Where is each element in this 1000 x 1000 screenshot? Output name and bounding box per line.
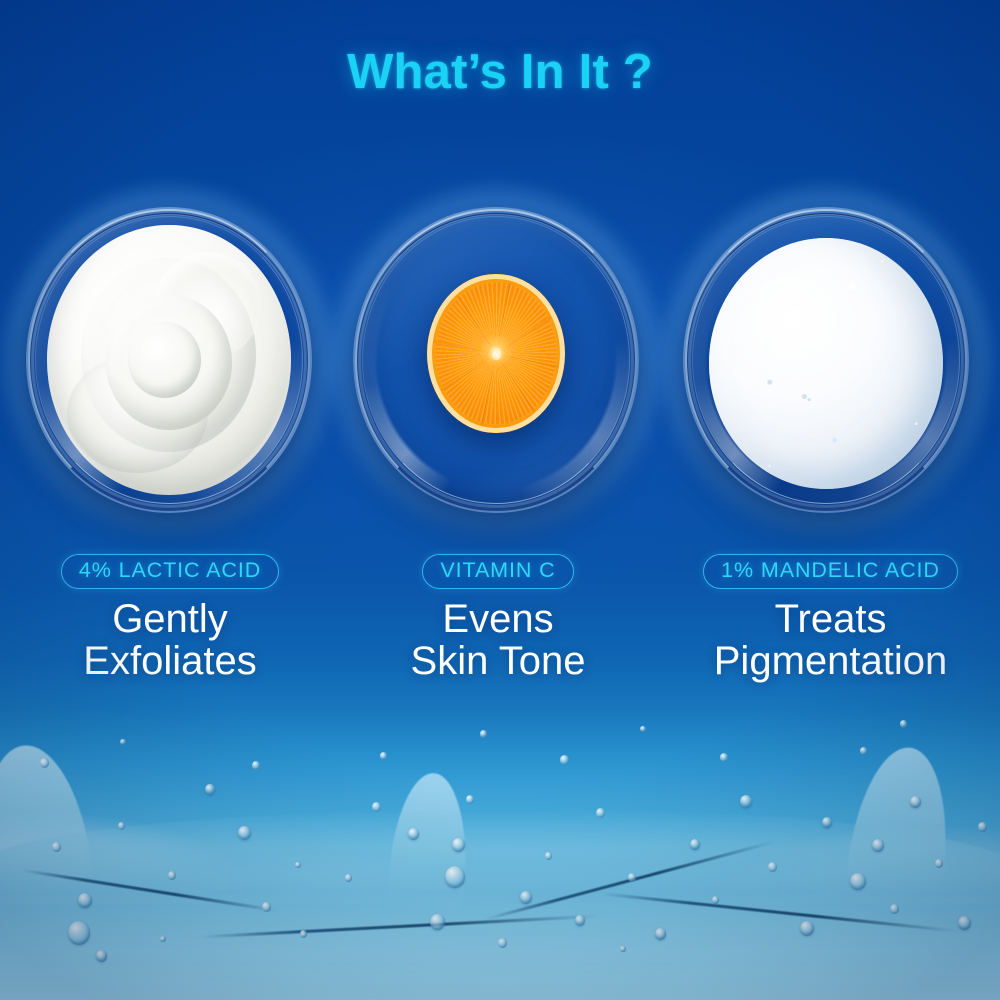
water-droplet — [800, 921, 814, 936]
dish-rim-highlight — [35, 216, 304, 504]
ingredient-column-lactic-acid: 4% LACTIC ACID Gently Exfoliates — [20, 554, 320, 683]
water-droplet — [452, 838, 465, 852]
water-droplet — [712, 896, 719, 904]
water-droplet — [445, 866, 465, 888]
water-droplet — [935, 859, 943, 868]
water-droplet — [300, 930, 307, 938]
ingredient-benefit-lactic-acid: Gently Exfoliates — [20, 598, 320, 684]
water-droplet — [295, 862, 301, 868]
water-droplet — [168, 871, 176, 880]
water-surface — [0, 810, 1000, 1000]
water-droplet — [380, 752, 387, 760]
water-droplet — [345, 874, 352, 882]
ingredient-image-lactic-acid — [26, 207, 312, 513]
ingredient-image-mandelic-acid — [683, 207, 969, 513]
water-droplet — [480, 730, 487, 738]
water-droplet — [690, 839, 700, 850]
water-droplet — [655, 928, 666, 940]
water-droplet — [620, 946, 626, 952]
water-droplet — [252, 761, 260, 770]
petri-dish-icon — [683, 207, 969, 513]
water-droplet — [68, 921, 90, 945]
ingredient-benefit-vitamin-c: Evens Skin Tone — [348, 598, 648, 684]
dish-rim-highlight — [362, 216, 631, 504]
water-droplet — [850, 873, 866, 890]
petri-dish-icon — [26, 207, 312, 513]
ingredient-pill-lactic-acid[interactable]: 4% LACTIC ACID — [61, 554, 279, 589]
water-droplet — [52, 842, 61, 852]
water-droplet — [408, 828, 419, 840]
water-droplet — [872, 839, 884, 852]
water-droplet — [822, 817, 832, 828]
ingredient-image-row — [0, 207, 1000, 517]
water-droplet — [978, 822, 987, 832]
water-droplet — [120, 739, 126, 745]
ingredient-image-vitamin-c — [353, 207, 639, 513]
ingredient-column-vitamin-c: VITAMIN C Evens Skin Tone — [348, 554, 648, 683]
water-droplet — [910, 796, 921, 808]
ingredient-pill-vitamin-c[interactable]: VITAMIN C — [422, 554, 573, 589]
water-droplet — [430, 914, 445, 930]
water-droplet — [860, 747, 867, 755]
water-droplet — [768, 862, 777, 872]
water-droplet — [262, 902, 271, 912]
ingredient-pill-mandelic-acid[interactable]: 1% MANDELIC ACID — [703, 554, 958, 589]
water-droplet — [958, 916, 971, 930]
water-droplet — [118, 822, 125, 830]
water-droplet — [160, 936, 166, 942]
water-droplet — [372, 802, 381, 812]
water-droplet — [96, 950, 107, 962]
water-droplet — [78, 893, 92, 908]
water-splash-decor — [0, 680, 1000, 1000]
water-droplet — [545, 852, 552, 860]
page-title: What’s In It ? — [0, 44, 1000, 100]
water-droplet — [628, 873, 636, 882]
ingredient-column-mandelic-acid: 1% MANDELIC ACID Treats Pigmentation — [678, 554, 983, 683]
water-droplet — [740, 795, 752, 808]
water-droplet — [520, 891, 532, 904]
water-droplet — [560, 755, 569, 765]
water-droplet — [640, 726, 646, 732]
water-droplet — [205, 784, 215, 795]
ingredient-benefit-mandelic-acid: Treats Pigmentation — [678, 598, 983, 684]
water-droplet — [890, 904, 899, 914]
petri-dish-icon — [353, 207, 639, 513]
water-droplet — [498, 938, 507, 948]
water-droplet — [575, 915, 585, 926]
water-droplet — [900, 720, 907, 728]
water-droplet — [720, 753, 728, 762]
water-droplet — [40, 758, 49, 768]
water-droplet — [466, 795, 474, 804]
water-droplet — [238, 826, 251, 840]
dish-rim-highlight — [692, 216, 961, 504]
water-droplet — [596, 808, 605, 818]
